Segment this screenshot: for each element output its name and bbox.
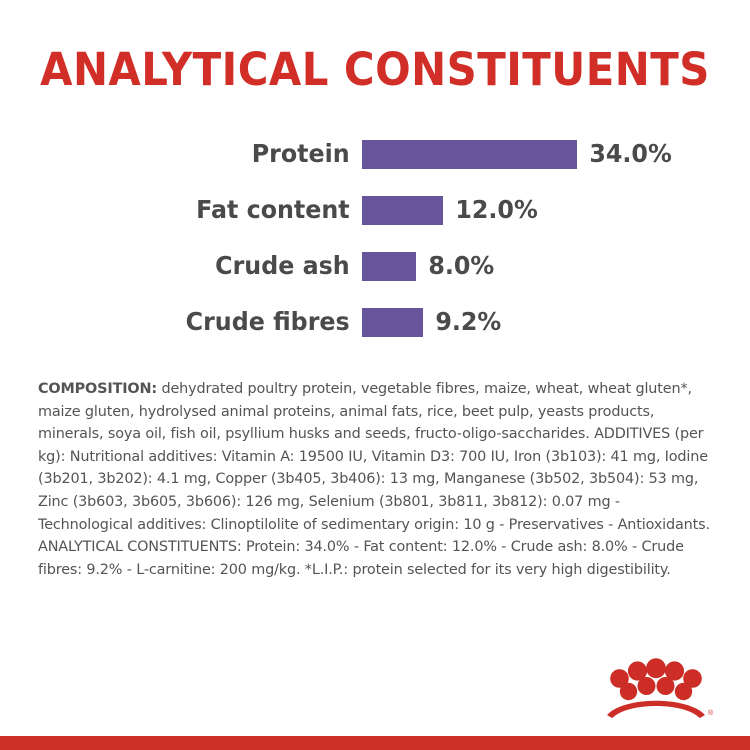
composition-body-text: dehydrated poultry protein, vegetable fi… xyxy=(38,381,710,578)
bar-fat-content xyxy=(362,196,443,225)
bar-value-crude-ash: 8.0% xyxy=(416,252,494,280)
bar-wrap-crude-ash: 8.0% xyxy=(362,252,750,281)
chart-row-protein: Protein 34.0% xyxy=(0,126,750,182)
royal-canin-crown-logo: ® xyxy=(596,655,716,730)
composition-lead-label: COMPOSITION: xyxy=(38,381,157,397)
bar-label-fat-content: Fat content xyxy=(18,196,362,224)
product-info-page: ANALYTICAL CONSTITUENTS Protein 34.0% Fa… xyxy=(0,0,750,750)
trademark-symbol: ® xyxy=(708,709,714,717)
page-title: ANALYTICAL CONSTITUENTS xyxy=(26,44,724,96)
bar-value-crude-fibres: 9.2% xyxy=(423,308,501,336)
bar-value-protein: 34.0% xyxy=(577,140,672,168)
bar-crude-ash xyxy=(362,252,416,281)
analytical-constituents-bar-chart: Protein 34.0% Fat content 12.0% Crude as… xyxy=(0,126,750,350)
bar-wrap-crude-fibres: 9.2% xyxy=(362,308,750,337)
composition-paragraph: COMPOSITION: dehydrated poultry protein,… xyxy=(38,378,716,581)
bar-crude-fibres xyxy=(362,308,423,337)
bar-wrap-fat-content: 12.0% xyxy=(362,196,750,225)
chart-row-crude-fibres: Crude fibres 9.2% xyxy=(0,294,750,350)
bar-label-crude-ash: Crude ash xyxy=(18,252,362,280)
bar-protein xyxy=(362,140,577,169)
bar-label-protein: Protein xyxy=(18,140,362,168)
chart-row-crude-ash: Crude ash 8.0% xyxy=(0,238,750,294)
chart-row-fat-content: Fat content 12.0% xyxy=(0,182,750,238)
bar-label-crude-fibres: Crude fibres xyxy=(18,308,362,336)
bottom-red-strip xyxy=(0,736,750,750)
bar-wrap-protein: 34.0% xyxy=(362,140,750,169)
bar-value-fat-content: 12.0% xyxy=(443,196,538,224)
